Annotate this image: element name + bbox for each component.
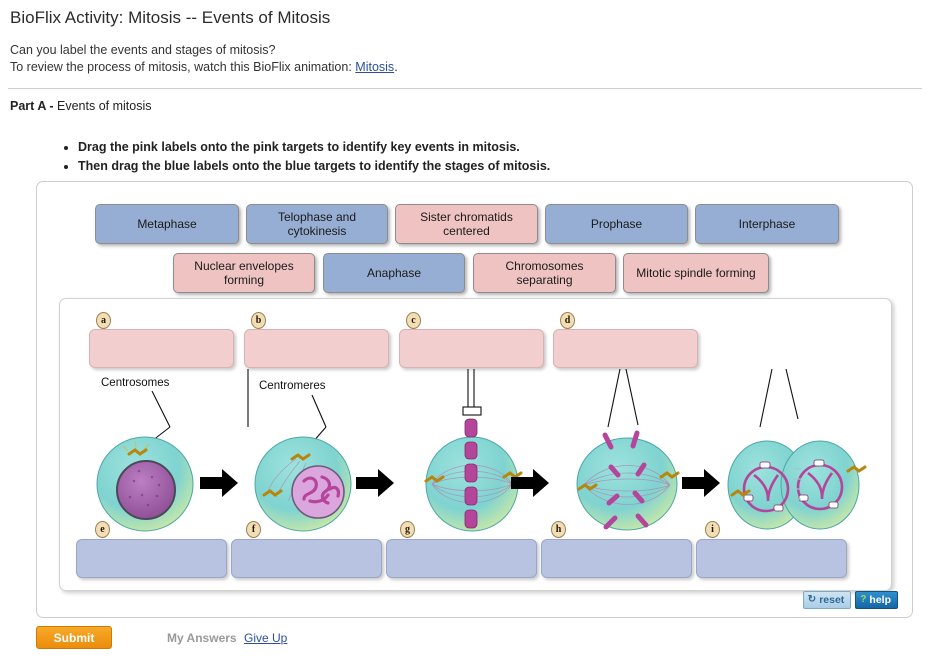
question-icon: ? [860,595,866,605]
header-divider [8,88,922,89]
arrow-icon [200,469,238,497]
drop-target-e[interactable] [76,539,227,578]
drop-target-i[interactable] [696,539,847,578]
drag-label-text: Anaphase [367,266,421,280]
drag-label-text: Telophase and cytokinesis [251,210,383,238]
drag-label-text: Sister chromatids centered [400,210,533,238]
arrow-icon [356,469,394,497]
intro-line-2-prefix: To review the process of mitosis, watch … [10,60,355,74]
target-badge-g: g [400,521,415,538]
target-badge-i: i [705,521,720,538]
give-up-link[interactable]: Give Up [244,631,287,645]
page-title: BioFlix Activity: Mitosis -- Events of M… [10,8,330,28]
target-badge-b: b [251,312,266,329]
cell-anaphase [577,433,678,530]
activity-panel: Metaphase Telophase and cytokinesis Sist… [36,181,913,618]
drag-label-metaphase[interactable]: Metaphase [95,204,239,244]
drag-label-text: Nuclear envelopes forming [178,259,310,287]
drop-target-d[interactable] [553,329,698,368]
drag-label-text: Metaphase [137,217,196,231]
intro-line-2-suffix: . [394,60,397,74]
target-badge-h: h [551,521,566,538]
drag-label-prophase[interactable]: Prophase [545,204,688,244]
instruction-item: Drag the pink labels onto the pink targe… [78,138,550,157]
help-label: help [869,594,891,606]
cell-interphase [97,437,193,531]
drop-target-a[interactable] [89,329,234,368]
intro-line-1: Can you label the events and stages of m… [10,43,275,57]
reset-icon: ↻ [808,595,816,605]
label-centromeres: Centromeres [259,380,325,392]
diagram-toolbar: ↻ reset ? help [803,591,898,609]
help-button[interactable]: ? help [855,591,898,609]
drop-target-c[interactable] [399,329,544,368]
instruction-list: Drag the pink labels onto the pink targe… [60,138,550,176]
part-heading: Part A - Events of mitosis [10,99,151,113]
target-badge-e: e [95,521,110,538]
diagram-panel: a b c d Centrosomes Centromeres e f g h … [59,298,892,591]
drop-target-g[interactable] [386,539,537,578]
target-badge-d: d [560,312,575,329]
target-badge-f: f [246,521,261,538]
drag-label-text: Chromosomes separating [478,259,611,287]
target-badge-a: a [96,312,111,329]
drag-label-anaphase[interactable]: Anaphase [323,253,465,293]
mitosis-animation-link[interactable]: Mitosis [355,60,394,74]
drag-label-text: Interphase [739,217,796,231]
cell-prophase [255,437,351,531]
drag-label-nuclear-envelopes-forming[interactable]: Nuclear envelopes forming [173,253,315,293]
drop-target-h[interactable] [541,539,692,578]
drag-label-text: Mitotic spindle forming [636,266,755,280]
drag-label-interphase[interactable]: Interphase [695,204,839,244]
target-badge-c: c [406,312,421,329]
drop-target-b[interactable] [244,329,389,368]
label-centrosomes: Centrosomes [101,377,169,389]
arrow-icon [682,469,720,497]
reset-label: reset [819,594,844,606]
footer-bar: Submit My Answers Give Up [0,622,930,662]
drop-target-f[interactable] [231,539,382,578]
cell-telophase-cytokinesis [728,441,865,529]
reset-button[interactable]: ↻ reset [803,591,852,609]
drag-label-mitotic-spindle-forming[interactable]: Mitotic spindle forming [623,253,769,293]
drag-label-telophase-and-cytokinesis[interactable]: Telophase and cytokinesis [246,204,388,244]
drag-label-sister-chromatids-centered[interactable]: Sister chromatids centered [395,204,538,244]
instruction-item: Then drag the blue labels onto the blue … [78,157,550,176]
drag-label-text: Prophase [591,217,642,231]
my-answers-label[interactable]: My Answers [167,631,237,645]
cell-metaphase [426,419,521,531]
submit-button[interactable]: Submit [36,626,112,649]
drag-label-chromosomes-separating[interactable]: Chromosomes separating [473,253,616,293]
part-title: Events of mitosis [54,99,152,113]
arrow-icon [511,469,549,497]
part-label: Part A - [10,99,54,113]
intro-text: Can you label the events and stages of m… [10,42,398,76]
